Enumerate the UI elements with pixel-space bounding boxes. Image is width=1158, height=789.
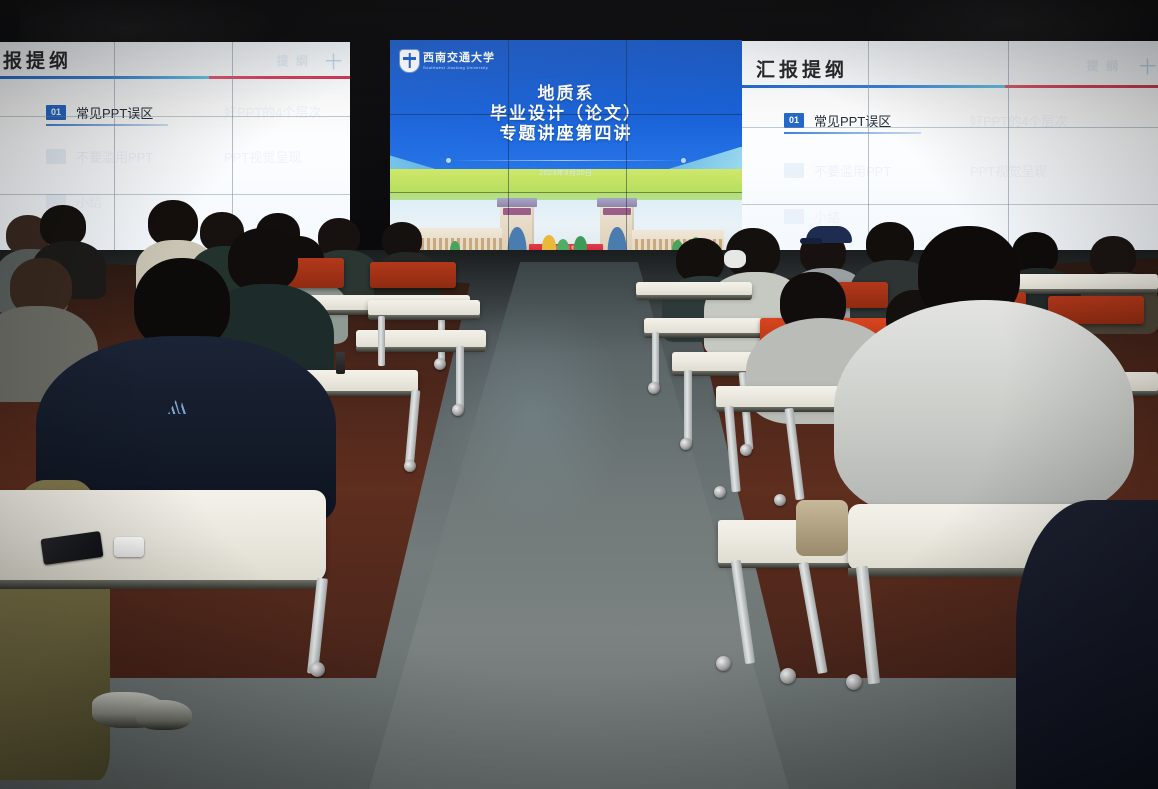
table-leg: [684, 370, 692, 444]
outline-item-number: 01: [784, 113, 804, 128]
outline-item-02-left[interactable]: 好PPT的4个层次: [224, 102, 322, 121]
outline-item-05-right[interactable]: 05 小结: [784, 207, 840, 226]
chair: [370, 262, 456, 288]
table-leg: [652, 332, 659, 388]
outline-item-03-left[interactable]: 03 不要滥用PPT: [46, 147, 153, 166]
table-caster: [404, 460, 416, 472]
table-caster: [434, 358, 446, 370]
outline-item-number: 03: [46, 149, 66, 164]
university-name-en: Southwest Jiaotong University: [423, 66, 495, 70]
outline-item-01-left[interactable]: 01 常见PPT误区: [46, 103, 153, 122]
shoe: [136, 700, 192, 730]
outline-rule-left: [0, 76, 350, 79]
cap-brim: [800, 238, 822, 244]
table-leg: [378, 316, 385, 366]
outline-item-underline-left: [46, 124, 168, 126]
lecture-hall-screenshot: 汇报提纲 提 纲 十 01 常见PPT误区 好PPT的4个层次 03 不要滥用P…: [0, 0, 1158, 789]
outline-item-03-right[interactable]: 03 不要滥用PPT: [784, 161, 891, 180]
outline-title-left: 汇报提纲: [0, 46, 72, 73]
table-caster: [716, 656, 731, 671]
table-caster: [846, 674, 862, 690]
outline-item-label: PPT视觉呈现: [224, 147, 301, 166]
face-mask-icon: [724, 250, 746, 268]
outline-item-number: 05: [784, 209, 804, 224]
outline-title-right: 汇报提纲: [756, 55, 848, 82]
outline-rule-right: [742, 85, 1158, 88]
plus-decor-icon-right: 十: [1139, 53, 1156, 78]
table-caster: [714, 486, 726, 498]
table-row: [636, 282, 752, 296]
outline-item-label: 小结: [814, 207, 840, 226]
outline-item-04-left[interactable]: PPT视觉呈现: [224, 147, 301, 166]
table-row: [644, 318, 762, 334]
table-caster: [740, 444, 752, 456]
university-name-cn: 西南交通大学: [423, 53, 495, 64]
table-caster: [774, 494, 786, 506]
table-leg: [456, 346, 464, 410]
table-caster: [648, 382, 660, 394]
title-slide-date: 2023年3月20日: [390, 168, 742, 178]
outline-ghost-heading-right: 提 纲: [1087, 57, 1120, 74]
title-line-1: 地质系: [390, 84, 742, 104]
outline-item-underline-right: [784, 132, 921, 134]
table-caster: [780, 668, 796, 684]
outline-item-number: 01: [46, 105, 66, 120]
table-caster: [452, 404, 464, 416]
screen-panel-center: 欢迎光临 西南交通大学 Southwest Jiaotong Universit…: [390, 40, 742, 262]
outline-item-label: 好PPT的4个层次: [224, 102, 322, 121]
table-row: [0, 490, 326, 582]
table-caster: [680, 438, 692, 450]
university-logo: 西南交通大学 Southwest Jiaotong University: [400, 50, 495, 72]
title-line-3: 专题讲座第四讲: [390, 124, 742, 144]
stool: [796, 500, 848, 556]
plus-decor-icon-left: 十: [325, 48, 342, 73]
outline-item-label: 不要滥用PPT: [814, 161, 891, 180]
table-row: [356, 330, 486, 348]
title-divider: [448, 160, 684, 161]
outline-item-number: 03: [784, 163, 804, 178]
earbuds-case-on-desk[interactable]: [114, 537, 144, 557]
outline-ghost-heading-left: 提 纲: [277, 52, 310, 69]
table-caster: [310, 662, 325, 677]
university-crest-icon: [400, 50, 419, 72]
water-bottle: [336, 352, 345, 374]
table-row: [368, 300, 480, 316]
